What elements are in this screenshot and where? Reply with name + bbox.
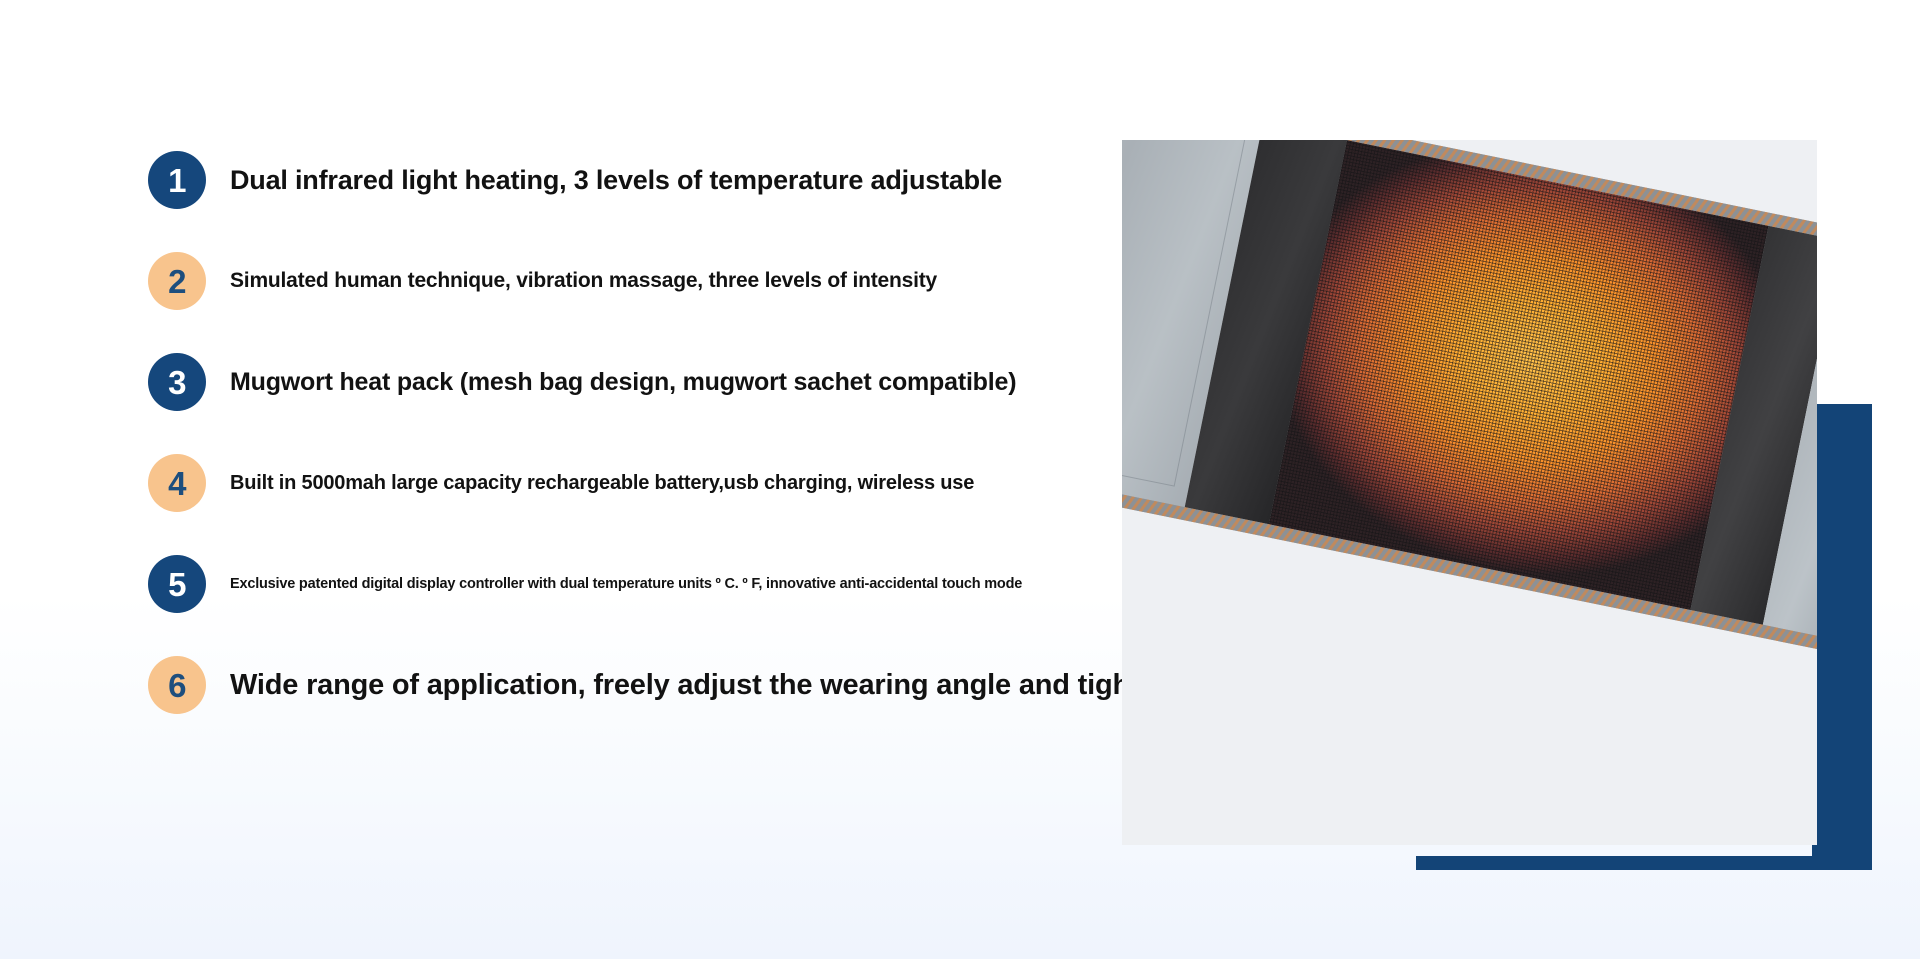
feature-text-3: Mugwort heat pack (mesh bag design, mugw… — [230, 368, 1016, 397]
feature-badge-3: 3 — [148, 353, 206, 411]
feature-row: 2 Simulated human technique, vibration m… — [148, 252, 937, 310]
feature-row: 1 Dual infrared light heating, 3 levels … — [148, 151, 1002, 209]
heating-belt-image — [1122, 140, 1817, 647]
feature-badge-number: 4 — [168, 467, 186, 500]
feature-row: 3 Mugwort heat pack (mesh bag design, mu… — [148, 353, 1016, 411]
feature-badge-number: 5 — [168, 568, 186, 601]
feature-text-6: Wide range of application, freely adjust… — [230, 669, 1205, 702]
feature-text-4: Built in 5000mah large capacity recharge… — [230, 472, 974, 495]
feature-text-1: Dual infrared light heating, 3 levels of… — [230, 165, 1002, 196]
feature-badge-4: 4 — [148, 454, 206, 512]
feature-row: 4 Built in 5000mah large capacity rechar… — [148, 454, 974, 512]
feature-text-2: Simulated human technique, vibration mas… — [230, 269, 937, 293]
feature-list: 1 Dual infrared light heating, 3 levels … — [0, 0, 1130, 959]
feature-row: 5 Exclusive patented digital display con… — [148, 555, 1022, 613]
feature-badge-number: 6 — [168, 669, 186, 702]
feature-badge-6: 6 — [148, 656, 206, 714]
feature-badge-2: 2 — [148, 252, 206, 310]
accent-frame-vertical-bar — [1812, 404, 1872, 870]
accent-frame-horizontal-bar — [1416, 856, 1872, 870]
feature-badge-number: 1 — [168, 164, 186, 197]
feature-text-5: Exclusive patented digital display contr… — [230, 576, 1022, 592]
feature-badge-1: 1 — [148, 151, 206, 209]
feature-badge-5: 5 — [148, 555, 206, 613]
feature-row: 6 Wide range of application, freely adju… — [148, 656, 1205, 714]
feature-badge-number: 3 — [168, 366, 186, 399]
product-photo-panel — [1122, 140, 1817, 845]
feature-badge-number: 2 — [168, 265, 186, 298]
